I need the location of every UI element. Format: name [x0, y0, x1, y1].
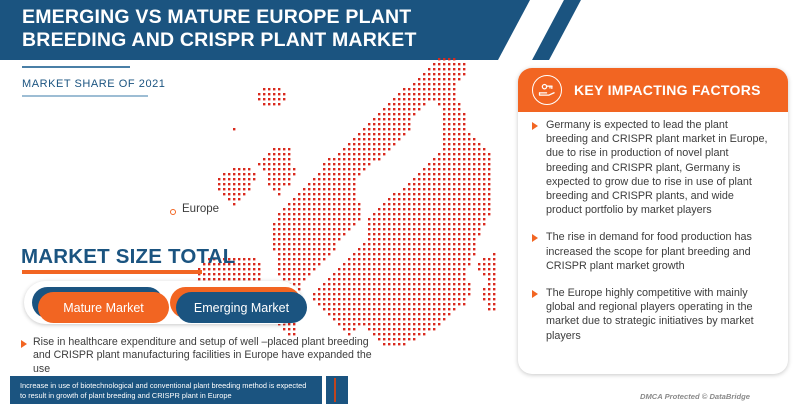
- footer-note-text: Increase in use of biotechnological and …: [20, 381, 306, 400]
- key-factors-list: Germany is expected to lead the plant br…: [518, 118, 788, 356]
- key-factors-header: KEY IMPACTING FACTORS: [518, 68, 788, 112]
- footer-tab-block: [326, 376, 348, 404]
- map-region-label: Europe: [182, 203, 219, 215]
- pill-mature-label: Mature Market: [38, 292, 169, 323]
- infographic-root: EMERGING VS MATURE EUROPE PLANT BREEDING…: [0, 0, 800, 412]
- key-factor-item: The rise in demand for food production h…: [532, 230, 772, 273]
- header-stripe-blue: [532, 0, 581, 60]
- header: EMERGING VS MATURE EUROPE PLANT BREEDING…: [0, 0, 800, 60]
- key-factor-text: The Europe highly competitive with mainl…: [546, 286, 772, 343]
- left-bullet-text: Rise in healthcare expenditure and setup…: [33, 336, 381, 376]
- pill-mature-market[interactable]: Mature Market: [32, 287, 163, 318]
- key-factor-item: Germany is expected to lead the plant br…: [532, 118, 772, 217]
- triangle-bullet-icon: [532, 234, 538, 242]
- market-share-underline: [22, 95, 148, 97]
- hand-holding-key-icon: [532, 75, 562, 105]
- footer-tab-accent-line: [334, 378, 336, 402]
- watermark: DMCA Protected © DataBridge: [640, 392, 750, 401]
- market-share-label: MARKET SHARE OF 2021: [22, 78, 165, 90]
- market-size-title: MARKET SIZE TOTAL: [21, 245, 235, 269]
- triangle-bullet-icon: [532, 290, 538, 298]
- key-factor-text: Germany is expected to lead the plant br…: [546, 118, 772, 217]
- key-factor-item: The Europe highly competitive with mainl…: [532, 286, 772, 343]
- pill-emerging-label: Emerging Market: [176, 292, 307, 323]
- header-underline: [22, 66, 130, 68]
- triangle-bullet-icon: [21, 340, 27, 348]
- page-title: EMERGING VS MATURE EUROPE PLANT BREEDING…: [22, 6, 482, 52]
- left-bullet-item: Rise in healthcare expenditure and setup…: [21, 336, 381, 376]
- footer-note-bar: Increase in use of biotechnological and …: [10, 376, 322, 404]
- key-factors-title: KEY IMPACTING FACTORS: [574, 82, 761, 98]
- pill-emerging-market[interactable]: Emerging Market: [170, 287, 301, 318]
- map-marker-icon: [170, 209, 176, 215]
- market-size-underline: [22, 270, 202, 274]
- triangle-bullet-icon: [532, 122, 538, 130]
- key-factor-text: The rise in demand for food production h…: [546, 230, 772, 273]
